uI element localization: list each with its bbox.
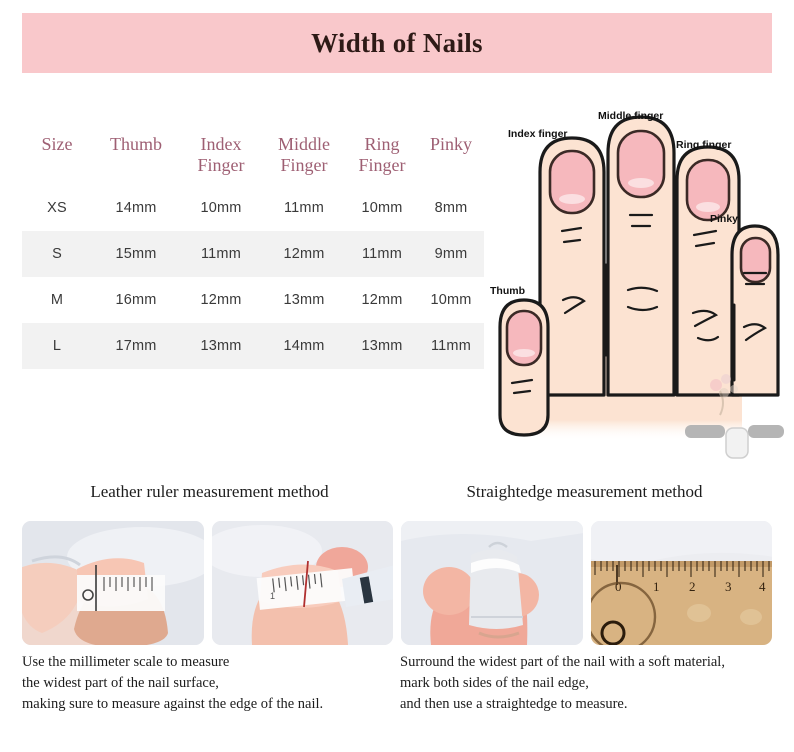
method-photo-strip: 1	[22, 521, 772, 645]
ruler-tick-2: 2	[689, 579, 696, 594]
hand-illustration-icon	[480, 95, 790, 460]
ruler-tick-3: 3	[725, 579, 732, 594]
hand-label-middle-finger: Middle finger	[598, 110, 663, 122]
hand-label-thumb: Thumb	[490, 285, 525, 297]
table-body: XS 14mm 10mm 11mm 10mm 8mm S 15mm 11mm 1…	[22, 185, 484, 369]
column-header-index-finger: Index Finger	[180, 130, 262, 185]
photo-wooden-ruler: 0 1 2 3 4	[591, 521, 773, 645]
middle-nail-highlight	[628, 178, 654, 188]
cell-index: 12mm	[180, 277, 262, 323]
cell-size: S	[22, 231, 92, 277]
cell-middle: 11mm	[262, 185, 346, 231]
hand-label-pinky: Pinky	[710, 213, 738, 225]
column-header-index-line2: Finger	[198, 155, 245, 175]
table-row: M 16mm 12mm 13mm 12mm 10mm	[22, 277, 484, 323]
method-heading-straightedge: Straightedge measurement method	[397, 482, 772, 502]
photo-tape-measure-1	[22, 521, 204, 645]
cell-pinky: 10mm	[418, 277, 484, 323]
cell-ring: 12mm	[346, 277, 418, 323]
caption-straightedge: Surround the widest part of the nail wit…	[400, 652, 772, 715]
photo-tape-measure-2: 1	[212, 521, 394, 645]
table-row: S 15mm 11mm 12mm 11mm 9mm	[22, 231, 484, 277]
cell-middle: 13mm	[262, 277, 346, 323]
size-chart-table-wrapper: Size Thumb Index Finger Middle Finger Ri…	[22, 130, 484, 369]
cell-ring: 13mm	[346, 323, 418, 369]
measurement-method-headings: Leather ruler measurement method Straigh…	[22, 482, 772, 502]
pinky-nail-shape	[741, 238, 770, 282]
column-header-ring-line1: Ring	[364, 134, 399, 154]
svg-text:1: 1	[270, 591, 275, 601]
ring-nail-highlight	[696, 202, 720, 212]
cell-ring: 10mm	[346, 185, 418, 231]
cell-thumb: 16mm	[92, 277, 180, 323]
column-header-middle-line1: Middle	[278, 134, 330, 154]
table-header-row: Size Thumb Index Finger Middle Finger Ri…	[22, 130, 484, 185]
column-header-pinky: Pinky	[418, 130, 484, 185]
caption-leather-ruler: Use the millimeter scale to measure the …	[22, 652, 400, 715]
cell-size: XS	[22, 185, 92, 231]
method-captions: Use the millimeter scale to measure the …	[22, 652, 772, 715]
cell-thumb: 15mm	[92, 231, 180, 277]
caption-right-line-1: Surround the widest part of the nail wit…	[400, 652, 772, 673]
column-header-size-line1: Size	[42, 134, 73, 154]
cell-thumb: 14mm	[92, 185, 180, 231]
caption-left-line-3: making sure to measure against the edge …	[22, 694, 400, 715]
photo-paper-strip	[401, 521, 583, 645]
hand-label-ring-finger: Ring finger	[676, 139, 731, 151]
cell-middle: 14mm	[262, 323, 346, 369]
method-heading-leather-ruler: Leather ruler measurement method	[22, 482, 397, 502]
size-chart-table: Size Thumb Index Finger Middle Finger Ri…	[22, 130, 484, 369]
column-header-index-line1: Index	[201, 134, 242, 154]
column-header-ring-finger: Ring Finger	[346, 130, 418, 185]
cell-middle: 12mm	[262, 231, 346, 277]
nail-tip-sticker-icon	[685, 425, 784, 458]
ruler-tick-4: 4	[759, 579, 766, 594]
thumb-nail-highlight	[513, 349, 535, 357]
column-header-middle-finger: Middle Finger	[262, 130, 346, 185]
table-row: XS 14mm 10mm 11mm 10mm 8mm	[22, 185, 484, 231]
cell-index: 10mm	[180, 185, 262, 231]
caption-left-line-2: the widest part of the nail surface,	[22, 673, 400, 694]
cell-ring: 11mm	[346, 231, 418, 277]
hand-label-index-finger: Index finger	[508, 128, 568, 140]
index-nail-highlight	[559, 194, 585, 204]
column-header-pinky-line1: Pinky	[430, 134, 472, 154]
table-row: L 17mm 13mm 14mm 13mm 11mm	[22, 323, 484, 369]
column-header-middle-line2: Finger	[281, 155, 328, 175]
cell-pinky: 9mm	[418, 231, 484, 277]
caption-left-line-1: Use the millimeter scale to measure	[22, 652, 400, 673]
cell-size: L	[22, 323, 92, 369]
ruler-tick-1: 1	[653, 579, 660, 594]
cell-pinky: 11mm	[418, 323, 484, 369]
column-header-thumb: Thumb	[92, 130, 180, 185]
page-title: Width of Nails	[311, 28, 483, 59]
column-header-ring-line2: Finger	[359, 155, 406, 175]
cell-thumb: 17mm	[92, 323, 180, 369]
column-header-thumb-line1: Thumb	[110, 134, 162, 154]
hand-diagram: Middle finger Index finger Ring finger P…	[480, 95, 790, 460]
column-header-size: Size	[22, 130, 92, 185]
cell-index: 13mm	[180, 323, 262, 369]
page-header-banner: Width of Nails	[22, 13, 772, 73]
cell-pinky: 8mm	[418, 185, 484, 231]
caption-right-line-3: and then use a straightedge to measure.	[400, 694, 772, 715]
caption-right-line-2: mark both sides of the nail edge,	[400, 673, 772, 694]
cell-index: 11mm	[180, 231, 262, 277]
ruler-tick-0: 0	[615, 579, 622, 594]
cell-size: M	[22, 277, 92, 323]
table-header: Size Thumb Index Finger Middle Finger Ri…	[22, 130, 484, 185]
